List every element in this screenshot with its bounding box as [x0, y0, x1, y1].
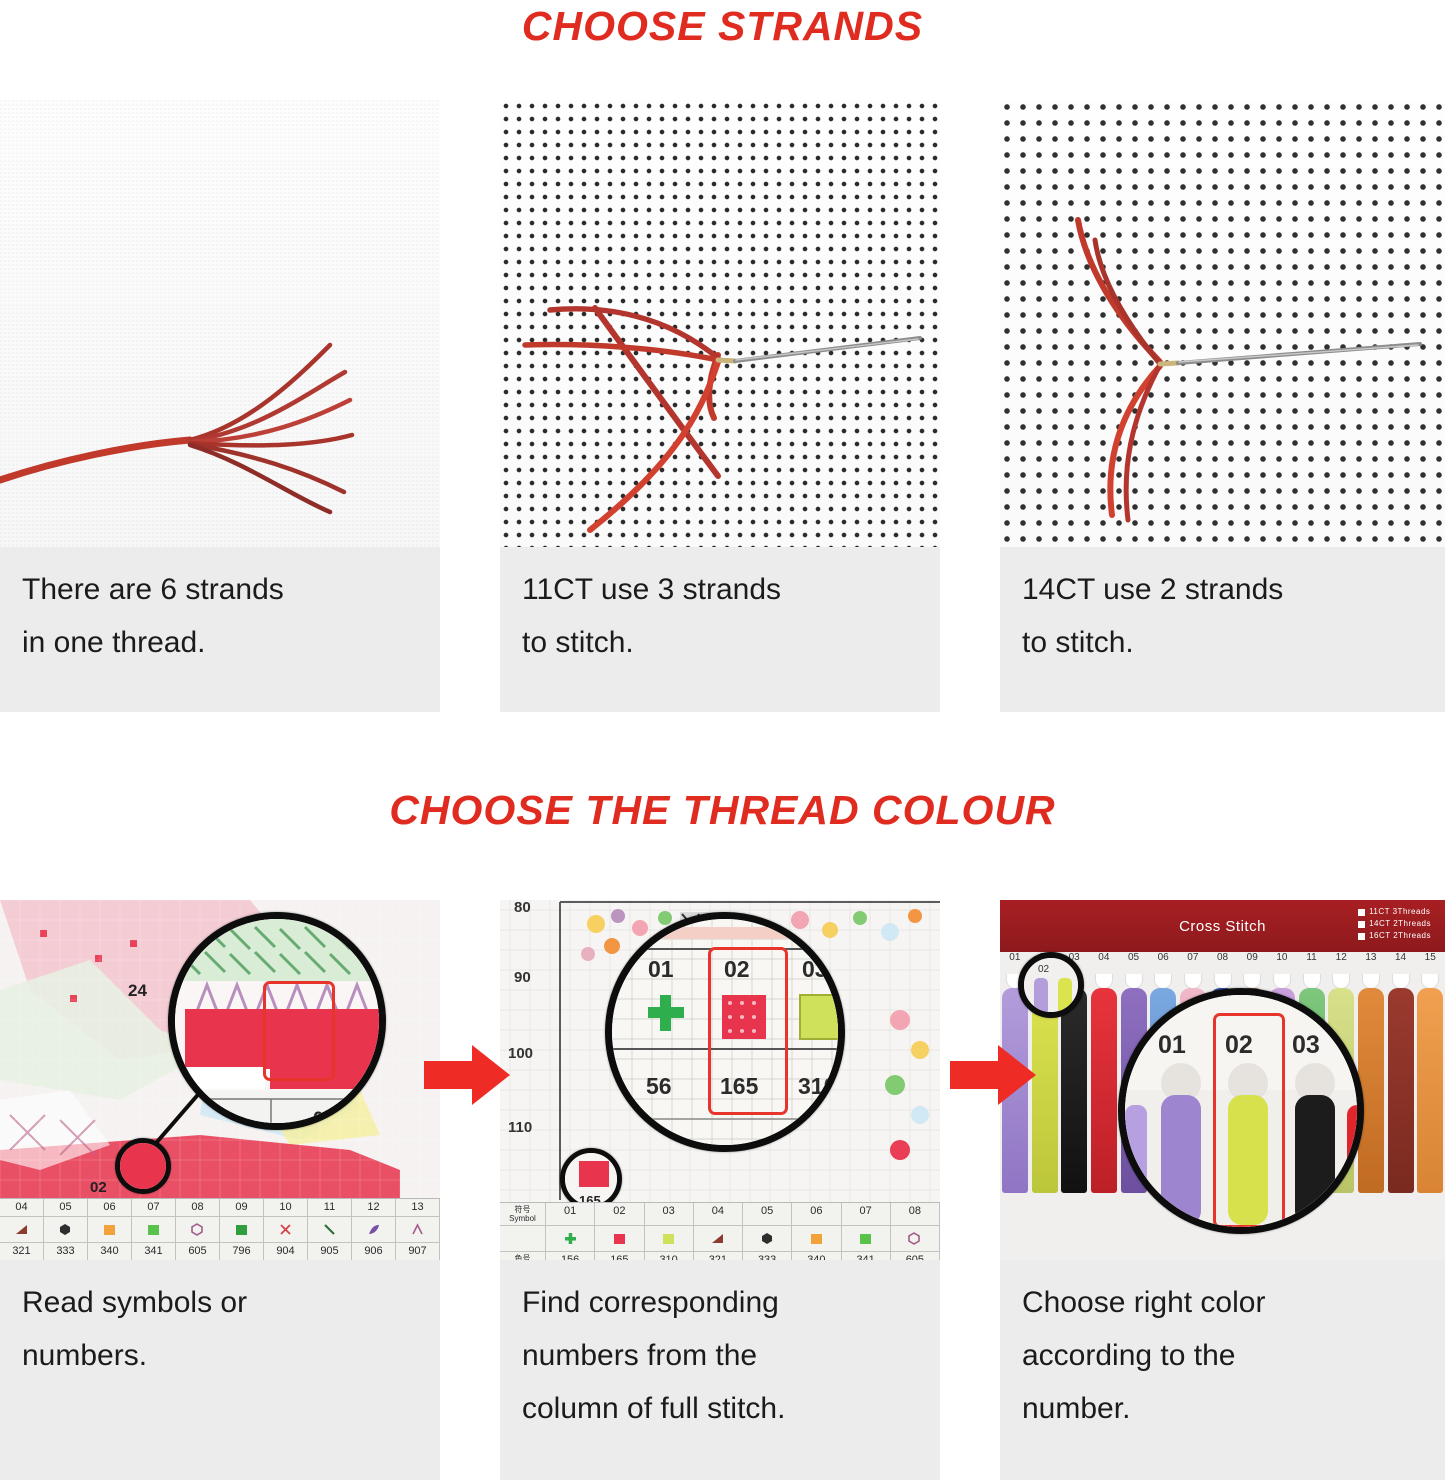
legend-row-label: 符号Symbol [500, 1203, 546, 1226]
legend-header-cell: 02 [595, 1203, 644, 1226]
hook-icon [1125, 974, 1143, 989]
legend-symbol-green-square [842, 1226, 891, 1252]
legend-header-cell: 12 [352, 1199, 396, 1217]
pack-number: 11 [1297, 952, 1327, 974]
pack-number: 10 [1267, 952, 1297, 974]
legend-code-cell: 341 [132, 1243, 176, 1260]
legend-symbol-hex-outline [891, 1226, 940, 1252]
floss-bundle [1061, 988, 1087, 1193]
full-stitch-legend-table: 符号Symbol 01 02 03 04 05 06 07 08 [500, 1202, 940, 1260]
magnifier-target-fill: 165 [565, 1153, 617, 1205]
caption-read-symbols: Read symbols or numbers. [0, 1260, 440, 1480]
legend-code-cell: 156 [546, 1252, 595, 1260]
card-six-strands: There are 6 strands in one thread. [0, 100, 440, 712]
caption-line-2: in one thread. [22, 616, 418, 669]
magnifier-target-skein: 02 [1024, 958, 1084, 1018]
pack-check-item: 16CT 2Threads [1358, 930, 1431, 942]
magnifier-target-circle: 02 [1018, 952, 1084, 1018]
caption-line-1: There are 6 strands [22, 563, 418, 616]
three-strand-needle-illustration [500, 100, 940, 547]
caption-line-1: 14CT use 2 strands [1022, 563, 1423, 616]
legend-code-cell: 906 [352, 1243, 396, 1260]
legend-header-cell: 08 [176, 1199, 220, 1217]
skein [1000, 974, 1030, 1260]
legend-header-cell: 01 [546, 1203, 595, 1226]
card-14ct: 14CT use 2 strands to stitch. [1000, 100, 1445, 712]
legend-code-cell: 340 [88, 1243, 132, 1260]
legend-header-cell: 10 [264, 1199, 308, 1217]
symbol-legend-table: 04 05 06 07 08 09 10 11 12 13 [0, 1198, 440, 1260]
svg-text:02: 02 [1038, 964, 1050, 975]
legend-code-cell: 333 [743, 1252, 792, 1260]
legend-header-cell: 04 [694, 1203, 743, 1226]
highlight-box [263, 981, 335, 1081]
floss-bundle [1417, 988, 1443, 1193]
pack-check-item: 14CT 2Threads [1358, 918, 1431, 930]
pack-number: 06 [1148, 952, 1178, 974]
pack-check-list: 11CT 3Threads 14CT 2Threads 16CT 2Thread… [1358, 906, 1431, 942]
legend-symbol-row [0, 1217, 440, 1243]
legend-code-cell: 605 [891, 1252, 940, 1260]
checkbox-icon [1358, 933, 1365, 940]
right-arrow-icon [950, 1043, 1036, 1107]
legend-code-cell: 310 [645, 1252, 694, 1260]
magnifier-content: 01 02 03 [1125, 995, 1357, 1227]
pack-number: 07 [1178, 952, 1208, 974]
legend-code-cell: 905 [308, 1243, 352, 1260]
magnified-header: 03 [1292, 1031, 1320, 1059]
legend-symbol-triangle [694, 1226, 743, 1252]
hook-icon [1392, 974, 1410, 989]
pack-number: 14 [1386, 952, 1416, 974]
caption-line-1: Find corresponding [522, 1276, 918, 1329]
hook-icon [1362, 974, 1380, 989]
legend-symbol-slash [308, 1217, 352, 1243]
legend-code-cell: 321 [0, 1243, 44, 1260]
strands-card-row: There are 6 strands in one thread. [0, 100, 1445, 712]
caption-choose-color: Choose right color according to the numb… [1000, 1260, 1445, 1480]
legend-code-row: 321 333 340 341 605 796 904 905 906 907 [0, 1243, 440, 1260]
legend-symbol-red-square [595, 1226, 644, 1252]
legend-symbol-hex [44, 1217, 88, 1243]
legend-header-cell: 06 [88, 1199, 132, 1217]
skein [1386, 974, 1416, 1260]
six-strand-thread-illustration [0, 100, 440, 547]
pack-number: 15 [1415, 952, 1445, 974]
legend-header-cell: 09 [220, 1199, 264, 1217]
legend-symbol-lime-square [645, 1226, 694, 1252]
magnified-header: 01 [1158, 1031, 1186, 1059]
legend-code-cell: 605 [176, 1243, 220, 1260]
caption-11ct: 11CT use 3 strands to stitch. [500, 547, 940, 712]
magnified-header: 03 [802, 956, 828, 982]
right-arrow-icon [424, 1043, 510, 1107]
legend-header-cell: 04 [0, 1199, 44, 1217]
pack-number: 13 [1356, 952, 1386, 974]
legend-code-cell: 907 [396, 1243, 440, 1260]
card-read-symbols: 24 02 [0, 900, 440, 1480]
legend-code-cell: 904 [264, 1243, 308, 1260]
chart-label-02: 02 [90, 1179, 107, 1196]
checkbox-icon [1358, 909, 1365, 916]
legend-header-cell: 05 [44, 1199, 88, 1217]
legend-header-cell: 03 [645, 1203, 694, 1226]
caption-six-strands: There are 6 strands in one thread. [0, 547, 440, 712]
magnified-header: 01 [648, 956, 674, 982]
legend-symbol-triangle [0, 1217, 44, 1243]
row-marker: 90 [514, 969, 531, 986]
legend-symbol-orange-square [792, 1226, 841, 1252]
pack-title: Cross Stitch [1179, 918, 1266, 935]
pack-banner: Cross Stitch 11CT 3Threads 14CT 2Threads [1000, 900, 1445, 952]
pack-number: 08 [1208, 952, 1238, 974]
legend-code-cell: 165 [595, 1252, 644, 1260]
legend-header-row: 符号Symbol 01 02 03 04 05 06 07 08 [500, 1203, 940, 1226]
pack-number: 09 [1237, 952, 1267, 974]
floss-bundle [1388, 988, 1414, 1193]
card-find-numbers: 80 90 100 110 [500, 900, 940, 1480]
legend-code-row: 色号DMC 156 165 310 321 333 340 341 605 [500, 1252, 940, 1260]
hook-icon [1421, 974, 1439, 989]
checkbox-icon [1358, 921, 1365, 928]
skein [1089, 974, 1119, 1260]
floss-bundle [1091, 988, 1117, 1193]
infographic-page: CHOOSE STRANDS [0, 0, 1445, 1480]
photo-pattern-chart: 24 02 [0, 900, 440, 1260]
legend-row-label: 色号DMC [500, 1252, 546, 1260]
legend-header-cell: 06 [792, 1203, 841, 1226]
pack-number: 12 [1326, 952, 1356, 974]
legend-header-cell: 08 [891, 1203, 940, 1226]
skein [1415, 974, 1445, 1260]
legend-header-cell: 11 [308, 1199, 352, 1217]
caption-line-1: Choose right color [1022, 1276, 1423, 1329]
legend-symbol-hex-outline [176, 1217, 220, 1243]
photo-14ct [1000, 100, 1445, 547]
caption-line-3: number. [1022, 1382, 1423, 1435]
caption-line-2: according to the [1022, 1329, 1423, 1382]
chart-marker-24: 24 [128, 981, 147, 1000]
legend-header-cell: 07 [842, 1203, 891, 1226]
caption-line-2: numbers. [22, 1329, 418, 1382]
card-choose-color: Cross Stitch 11CT 3Threads 14CT 2Threads [1000, 900, 1445, 1480]
two-strand-needle-illustration [1000, 100, 1445, 547]
hook-icon [1332, 974, 1350, 989]
magnifier-target-circle [115, 1138, 171, 1194]
magnifier-icon: 01 02 03 56 165 310 [605, 912, 845, 1152]
section-title-choose-thread-colour: CHOOSE THE THREAD COLOUR [0, 790, 1445, 831]
pack-check-label: 16CT 2Threads [1369, 930, 1431, 942]
legend-symbol-leaf [352, 1217, 396, 1243]
magnifier-content: 3 07 [175, 919, 379, 1123]
pack-check-label: 11CT 3Threads [1369, 906, 1430, 918]
legend-code-cell: 340 [792, 1252, 841, 1260]
highlight-box [1213, 1013, 1285, 1228]
legend-code-cell: 796 [220, 1243, 264, 1260]
photo-six-strands [0, 100, 440, 547]
magnifier-content: 01 02 03 56 165 310 [612, 919, 838, 1145]
row-marker: 110 [508, 1119, 532, 1136]
legend-code-cell: 333 [44, 1243, 88, 1260]
colour-card-row: 24 02 [0, 900, 1445, 1480]
section-title-choose-strands: CHOOSE STRANDS [0, 0, 1445, 47]
photo-full-stitch-column: 80 90 100 110 [500, 900, 940, 1260]
pack-number: 04 [1089, 952, 1119, 974]
legend-symbol-row [500, 1226, 940, 1252]
legend-symbol-cross [546, 1226, 595, 1252]
pack-check-label: 14CT 2Threads [1369, 918, 1431, 930]
caption-line-1: Read symbols or [22, 1276, 418, 1329]
legend-symbol-hex [743, 1226, 792, 1252]
caption-line-2: numbers from the [522, 1329, 918, 1382]
legend-header-cell: 13 [396, 1199, 440, 1217]
legend-header-cell: 07 [132, 1199, 176, 1217]
caption-line-2: to stitch. [522, 616, 918, 669]
hook-icon [1095, 974, 1113, 989]
card-11ct: 11CT use 3 strands to stitch. [500, 100, 940, 712]
caption-14ct: 14CT use 2 strands to stitch. [1000, 547, 1445, 712]
hook-icon [1184, 974, 1202, 989]
legend-symbol-dark-green-square [220, 1217, 264, 1243]
caption-find-numbers: Find corresponding numbers from the colu… [500, 1260, 940, 1480]
hook-icon [1303, 974, 1321, 989]
photo-11ct [500, 100, 940, 547]
magnifier-icon: 01 02 03 [1118, 988, 1364, 1234]
caption-line-2: to stitch. [1022, 616, 1423, 669]
legend-code-cell: 321 [694, 1252, 743, 1260]
magnifier-target-circle: 165 [560, 1148, 622, 1210]
legend-symbol-cross [264, 1217, 308, 1243]
magnifier-icon: 3 07 [168, 912, 386, 1130]
photo-thread-pack: Cross Stitch 11CT 3Threads 14CT 2Threads [1000, 900, 1445, 1260]
magnified-code: 56 [646, 1073, 672, 1099]
legend-symbol-orange-square [88, 1217, 132, 1243]
magnifier-target-fill: 02 [1024, 958, 1078, 1012]
legend-code-cell: 341 [842, 1252, 891, 1260]
hook-icon [1214, 974, 1232, 989]
skein [1059, 974, 1089, 1260]
legend-header-cell: 05 [743, 1203, 792, 1226]
legend-symbol-caret [396, 1217, 440, 1243]
pack-number: 05 [1119, 952, 1149, 974]
highlight-box [708, 947, 788, 1115]
hook-icon [1273, 974, 1291, 989]
magnifier-target-fill [120, 1143, 166, 1189]
hook-icon [1154, 974, 1172, 989]
legend-symbol-green-square [132, 1217, 176, 1243]
magnified-code: 310 [798, 1073, 836, 1099]
pack-check-item: 11CT 3Threads [1358, 906, 1431, 918]
caption-line-1: 11CT use 3 strands [522, 563, 918, 616]
legend-header-row: 04 05 06 07 08 09 10 11 12 13 [0, 1199, 440, 1217]
row-marker: 80 [514, 900, 531, 916]
hook-icon [1243, 974, 1261, 989]
row-marker: 100 [508, 1045, 533, 1062]
legend-row-label [500, 1226, 546, 1252]
caption-line-3: column of full stitch. [522, 1382, 918, 1435]
